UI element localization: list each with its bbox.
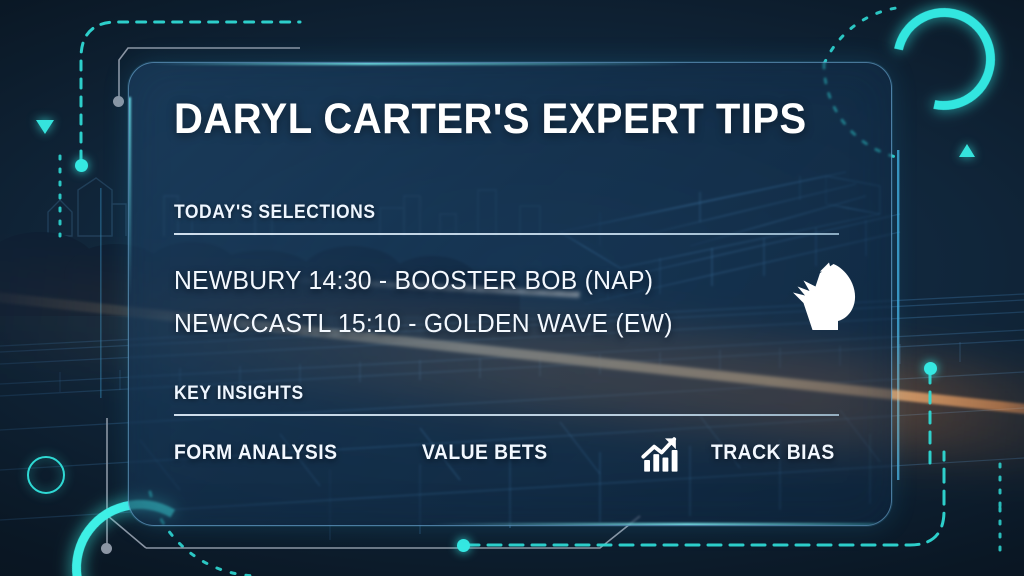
page-title: DARYL CARTER'S EXPERT TIPS <box>174 95 807 144</box>
selections-divider <box>174 233 839 235</box>
horse-head-icon <box>777 261 869 333</box>
insights-divider <box>174 414 839 416</box>
insight-track-bias[interactable]: TRACK BIAS <box>711 441 835 465</box>
poster-canvas: DARYL CARTER'S EXPERT TIPS TODAY'S SELEC… <box>0 0 1024 576</box>
selections-list: NEWBURY 14:30 - BOOSTER BOB (NAP) NEWCCA… <box>174 265 699 351</box>
list-item[interactable]: NEWBURY 14:30 - BOOSTER BOB (NAP) <box>174 265 673 296</box>
insight-form-analysis[interactable]: FORM ANALYSIS <box>174 441 337 465</box>
insights-heading: KEY INSIGHTS <box>174 383 786 405</box>
list-item[interactable]: NEWCCASTL 15:10 - GOLDEN WAVE (EW) <box>174 308 673 339</box>
selections-section-header: TODAY'S SELECTIONS <box>174 202 839 235</box>
insight-value-bets[interactable]: VALUE BETS <box>422 441 548 465</box>
insights-row: FORM ANALYSIS VALUE BETS TRACK BIAS <box>174 441 846 475</box>
tips-card: DARYL CARTER'S EXPERT TIPS TODAY'S SELEC… <box>128 62 892 526</box>
insights-section-header: KEY INSIGHTS <box>174 383 839 416</box>
chart-trending-up-icon <box>640 435 680 475</box>
selections-heading: TODAY'S SELECTIONS <box>174 202 786 224</box>
